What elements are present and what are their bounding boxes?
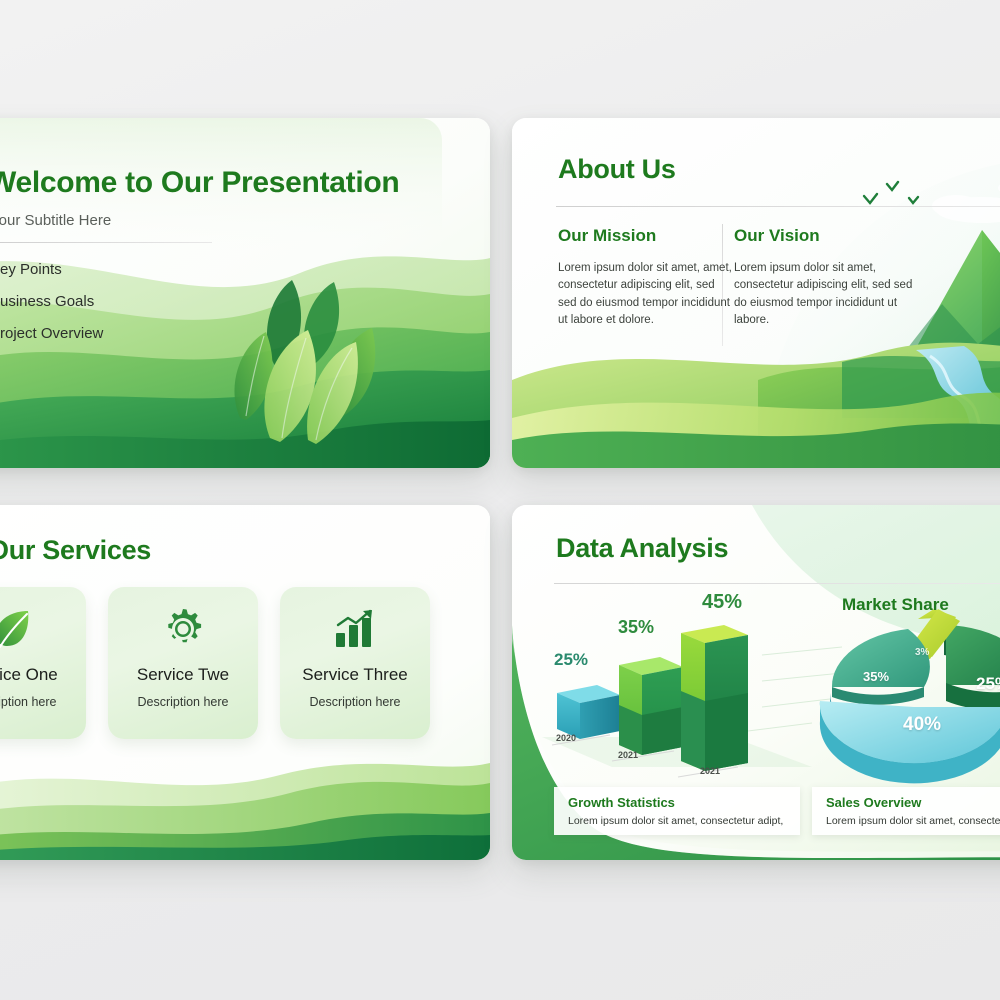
sales-overview-title: Sales Overview	[826, 795, 1000, 810]
service-card-three-title: Service Three	[302, 665, 408, 685]
sales-overview-body: Lorem ipsum dolor sit amet, consectetur …	[826, 815, 1000, 827]
bar-category-label-1: 2020	[556, 733, 576, 743]
vision-body: Lorem ipsum dolor sit amet, consectetur …	[734, 260, 914, 330]
leaf-icon	[0, 605, 34, 653]
bar-chart-growth-icon	[332, 605, 378, 653]
service-card-three-description: Description here	[309, 695, 400, 709]
bullet-key-points: Key Points	[0, 261, 62, 278]
slide-about-us[interactable]: About Us Our Mission Lorem ipsum dolor s…	[512, 118, 1000, 468]
service-card-one[interactable]: Service One Description here	[0, 587, 86, 739]
service-card-list: Service One Description here	[0, 587, 430, 739]
slide-deck-canvas: Welcome to Our Presentation Your Subtitl…	[0, 0, 1000, 1000]
pie-slice-label-4: 25%	[976, 674, 1000, 694]
service-card-two-description: Description here	[137, 695, 228, 709]
mission-heading: Our Mission	[558, 226, 733, 246]
vision-heading: Our Vision	[734, 226, 914, 246]
info-card-list: Growth Statistics Lorem ipsum dolor sit …	[554, 787, 1000, 835]
service-card-three[interactable]: Service Three Description here	[280, 587, 430, 739]
vision-column: Our Vision Lorem ipsum dolor sit amet, c…	[734, 226, 914, 330]
pie-slice-label-2: 35%	[863, 669, 889, 684]
service-card-two-title: Service Twe	[137, 665, 229, 685]
slide-welcome-title: Welcome to Our Presentation	[0, 166, 399, 200]
service-card-two[interactable]: Service Twe Description here	[108, 587, 258, 739]
gear-icon	[161, 605, 205, 653]
info-card-growth-statistics[interactable]: Growth Statistics Lorem ipsum dolor sit …	[554, 787, 800, 835]
bar-category-label-3: 2021	[700, 766, 720, 776]
growth-statistics-title: Growth Statistics	[568, 795, 786, 810]
bar-value-label-3: 45%	[702, 591, 742, 614]
pie-slice-label-3: 3%	[915, 647, 929, 658]
mission-column: Our Mission Lorem ipsum dolor sit amet, …	[558, 226, 733, 330]
bullet-business-goals: Business Goals	[0, 293, 94, 310]
service-card-one-title: Service One	[0, 665, 58, 685]
data-divider	[554, 583, 1000, 584]
growth-statistics-body: Lorem ipsum dolor sit amet, consectetur …	[568, 815, 786, 827]
slide-welcome[interactable]: Welcome to Our Presentation Your Subtitl…	[0, 118, 490, 468]
market-share-title: Market Share	[842, 595, 949, 615]
info-card-sales-overview[interactable]: Sales Overview Lorem ipsum dolor sit ame…	[812, 787, 1000, 835]
slide-services-title: Our Services	[0, 535, 151, 566]
slide-data-title: Data Analysis	[556, 533, 728, 564]
bar-value-label-1: 25%	[554, 650, 588, 670]
pie-slice-label-1: 40%	[903, 714, 941, 736]
slide-data-analysis[interactable]: Data Analysis Market Share 25% 35% 45% 2…	[512, 505, 1000, 860]
slide-about-title: About Us	[558, 154, 676, 185]
bar-category-label-2: 2021	[618, 750, 638, 760]
bar-value-label-2: 35%	[618, 617, 654, 638]
slide-our-services[interactable]: Our Services Service One Description h	[0, 505, 490, 860]
mission-body: Lorem ipsum dolor sit amet, amet, consec…	[558, 260, 733, 330]
bullet-project-overview: Project Overview	[0, 325, 103, 342]
about-divider	[556, 206, 1000, 207]
title-divider	[0, 242, 212, 243]
service-card-one-description: Description here	[0, 695, 57, 709]
slide-welcome-subtitle: Your Subtitle Here	[0, 212, 111, 229]
